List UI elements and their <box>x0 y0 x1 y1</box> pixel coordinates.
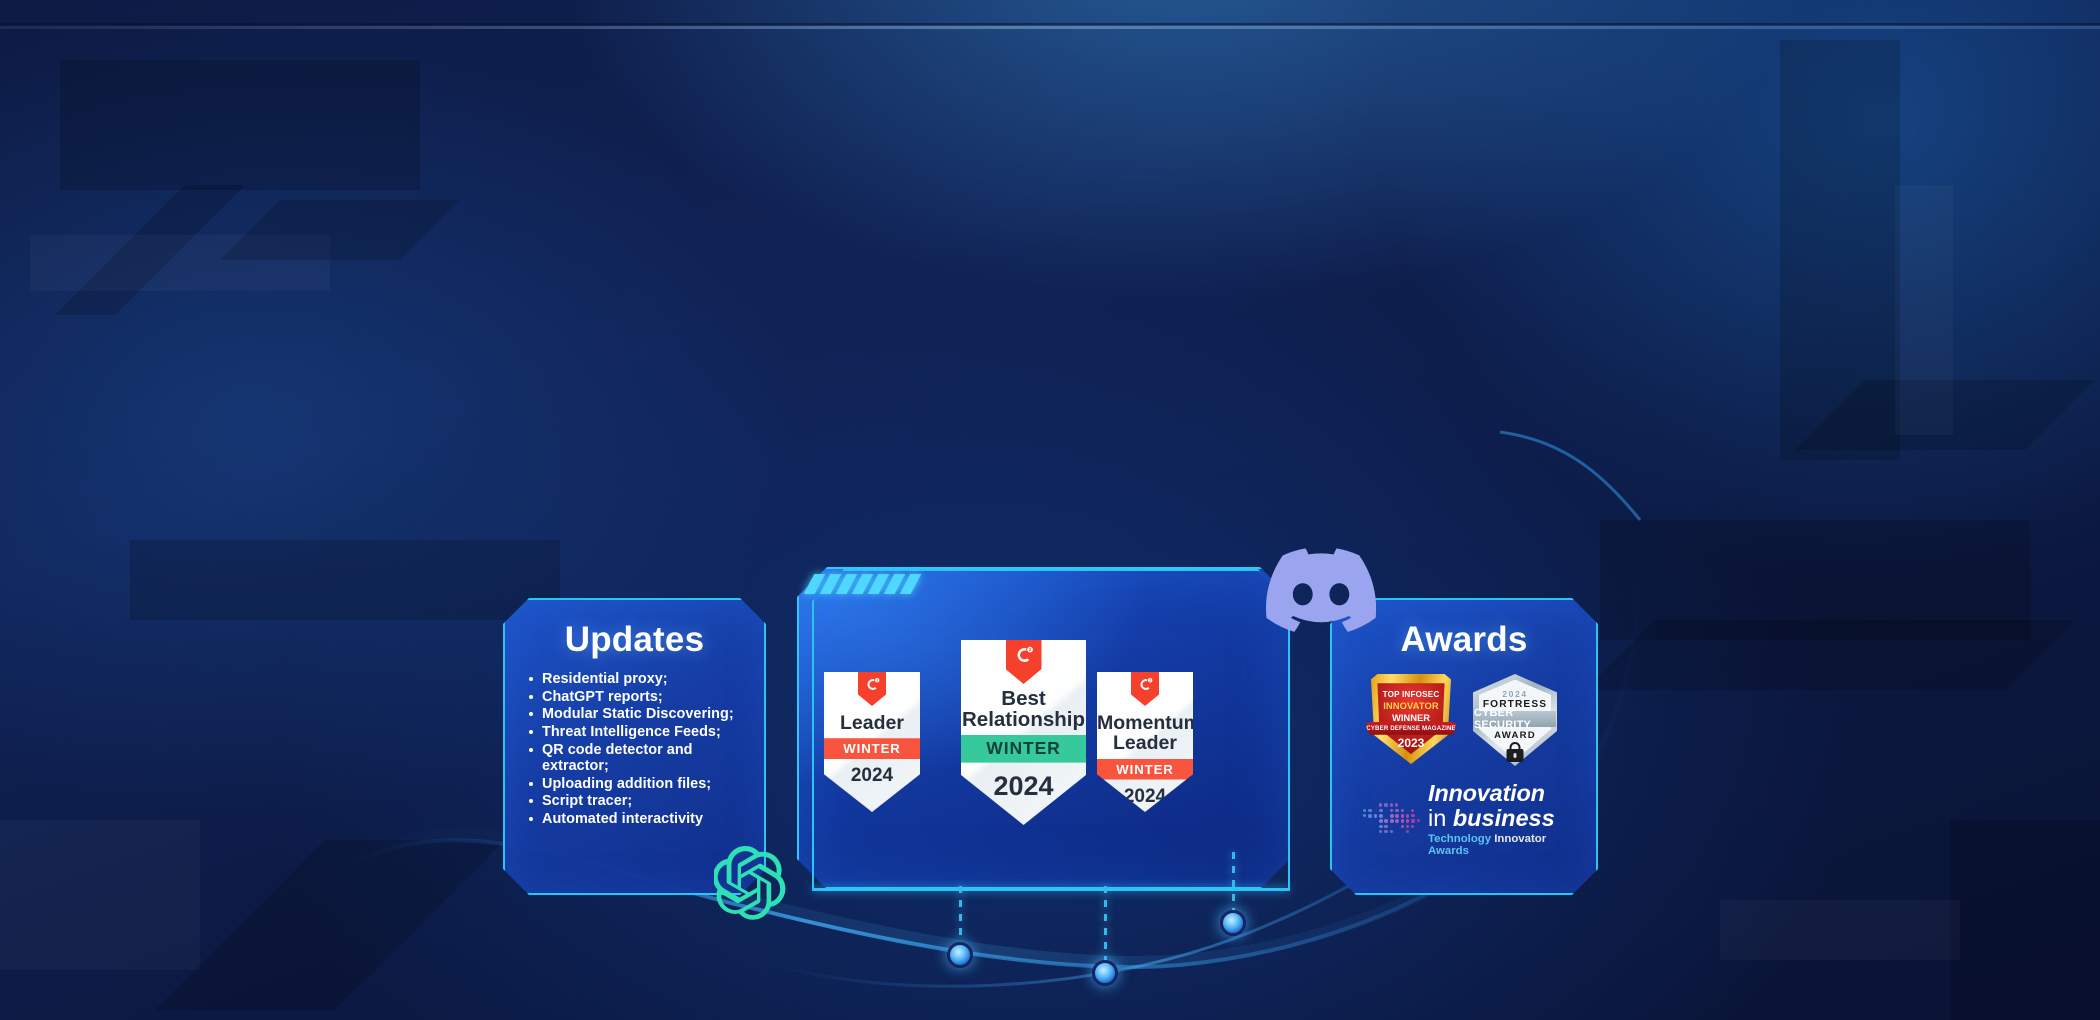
bg-circuit-shape <box>155 840 505 1010</box>
infosec-magazine-band: CYBER DEFENSE MAGAZINE <box>1365 722 1456 735</box>
updates-panel-title: Updates <box>505 620 764 660</box>
chatgpt-logo-icon <box>714 846 788 920</box>
bg-circuit-shape <box>60 60 420 190</box>
bg-circuit-shape <box>1720 900 1960 960</box>
badge-name: Best Relationship <box>961 688 1086 731</box>
svg-text:2: 2 <box>876 679 878 683</box>
awards-badge-row: TOP INFOSEC INNOVATOR WINNER CYBER DEFEN… <box>1332 674 1596 766</box>
bg-circuit-shape <box>130 540 560 620</box>
timeline-node[interactable] <box>947 942 973 968</box>
halftone-dots-icon <box>1350 796 1420 844</box>
discord-logo-icon <box>1266 548 1376 632</box>
fortress-cyber-security-award-badge: 2024 FORTRESS CYBER SECURITY AWARD <box>1473 674 1557 766</box>
top-divider <box>0 26 2100 29</box>
connector-line <box>1104 886 1107 968</box>
poster-canvas: Updates Residential proxy; ChatGPT repor… <box>0 0 2100 1020</box>
fortress-year: 2024 <box>1502 689 1528 699</box>
timeline-node[interactable] <box>1220 910 1246 936</box>
g2-logo-icon: 2 <box>1006 640 1042 684</box>
list-item: Uploading addition files; <box>527 776 759 792</box>
innovation-line2-bold: business <box>1453 805 1555 831</box>
connector-line <box>959 886 962 950</box>
list-item: ChatGPT reports; <box>527 689 759 705</box>
innovation-line3-b: Innovator <box>1494 833 1546 845</box>
g2-logo-icon: 2 <box>1131 672 1159 706</box>
glow-swoosh-tip <box>1500 432 1640 520</box>
innovation-line4: Awards <box>1428 846 1555 857</box>
infosec-year: 2023 <box>1371 736 1451 750</box>
innovation-line2: in business <box>1428 807 1555 831</box>
bg-circuit-shape <box>1895 185 1953 435</box>
list-item: Modular Static Discovering; <box>527 706 759 722</box>
innovation-in-business-award: Innovation in business Technology Innova… <box>1350 782 1596 858</box>
infosec-line2: INNOVATOR <box>1383 700 1439 711</box>
g2-logo-icon: 2 <box>858 672 886 706</box>
svg-text:2: 2 <box>1149 679 1151 683</box>
top-divider-shadow <box>0 23 2100 25</box>
infosec-line1: TOP INFOSEC <box>1383 690 1440 699</box>
fortress-line2: CYBER SECURITY <box>1474 711 1556 727</box>
innovation-line3-a: Technology <box>1428 833 1491 845</box>
list-item: Automated interactivity <box>527 811 759 827</box>
list-item: Residential proxy; <box>527 671 759 687</box>
badge-year: 2024 <box>824 765 920 787</box>
innovation-line1: Innovation <box>1428 782 1555 806</box>
badge-name: Leader <box>824 713 920 733</box>
list-item: Script tracer; <box>527 793 759 809</box>
updates-list: Residential proxy; ChatGPT reports; Modu… <box>527 671 759 827</box>
innovation-line3: Technology Innovator <box>1428 834 1555 845</box>
top-infosec-innovator-badge: TOP INFOSEC INNOVATOR WINNER CYBER DEFEN… <box>1371 674 1451 764</box>
connector-line <box>1232 852 1235 918</box>
list-item: QR code detector and extractor; <box>527 742 759 774</box>
badge-ribbon: WINTER <box>1088 759 1201 780</box>
hatch-stripes-decoration <box>809 574 927 594</box>
fortress-line3: AWARD <box>1473 730 1557 741</box>
innovation-wordmark: Innovation in business Technology Innova… <box>1428 782 1555 858</box>
timeline-node[interactable] <box>1092 960 1118 986</box>
bg-circuit-shape <box>220 200 460 260</box>
badge-ribbon: WINTER <box>815 738 928 759</box>
padlock-icon <box>1507 742 1524 762</box>
awards-panel: Awards TOP INFOSEC INNOVATOR WINNER CYBE… <box>1330 598 1598 895</box>
badge-name: Momentum Leader <box>1097 713 1193 754</box>
bg-circuit-shape <box>1585 620 2075 690</box>
list-item: Threat Intelligence Feeds; <box>527 724 759 740</box>
bg-circuit-shape <box>1950 820 2100 1020</box>
innovation-line2-thin: in <box>1428 805 1446 831</box>
badge-ribbon: WINTER <box>947 735 1100 763</box>
center-panel-neon-frame-bottom <box>812 888 1290 891</box>
infosec-line3: WINNER <box>1392 712 1430 723</box>
bg-circuit-shape <box>0 820 200 970</box>
